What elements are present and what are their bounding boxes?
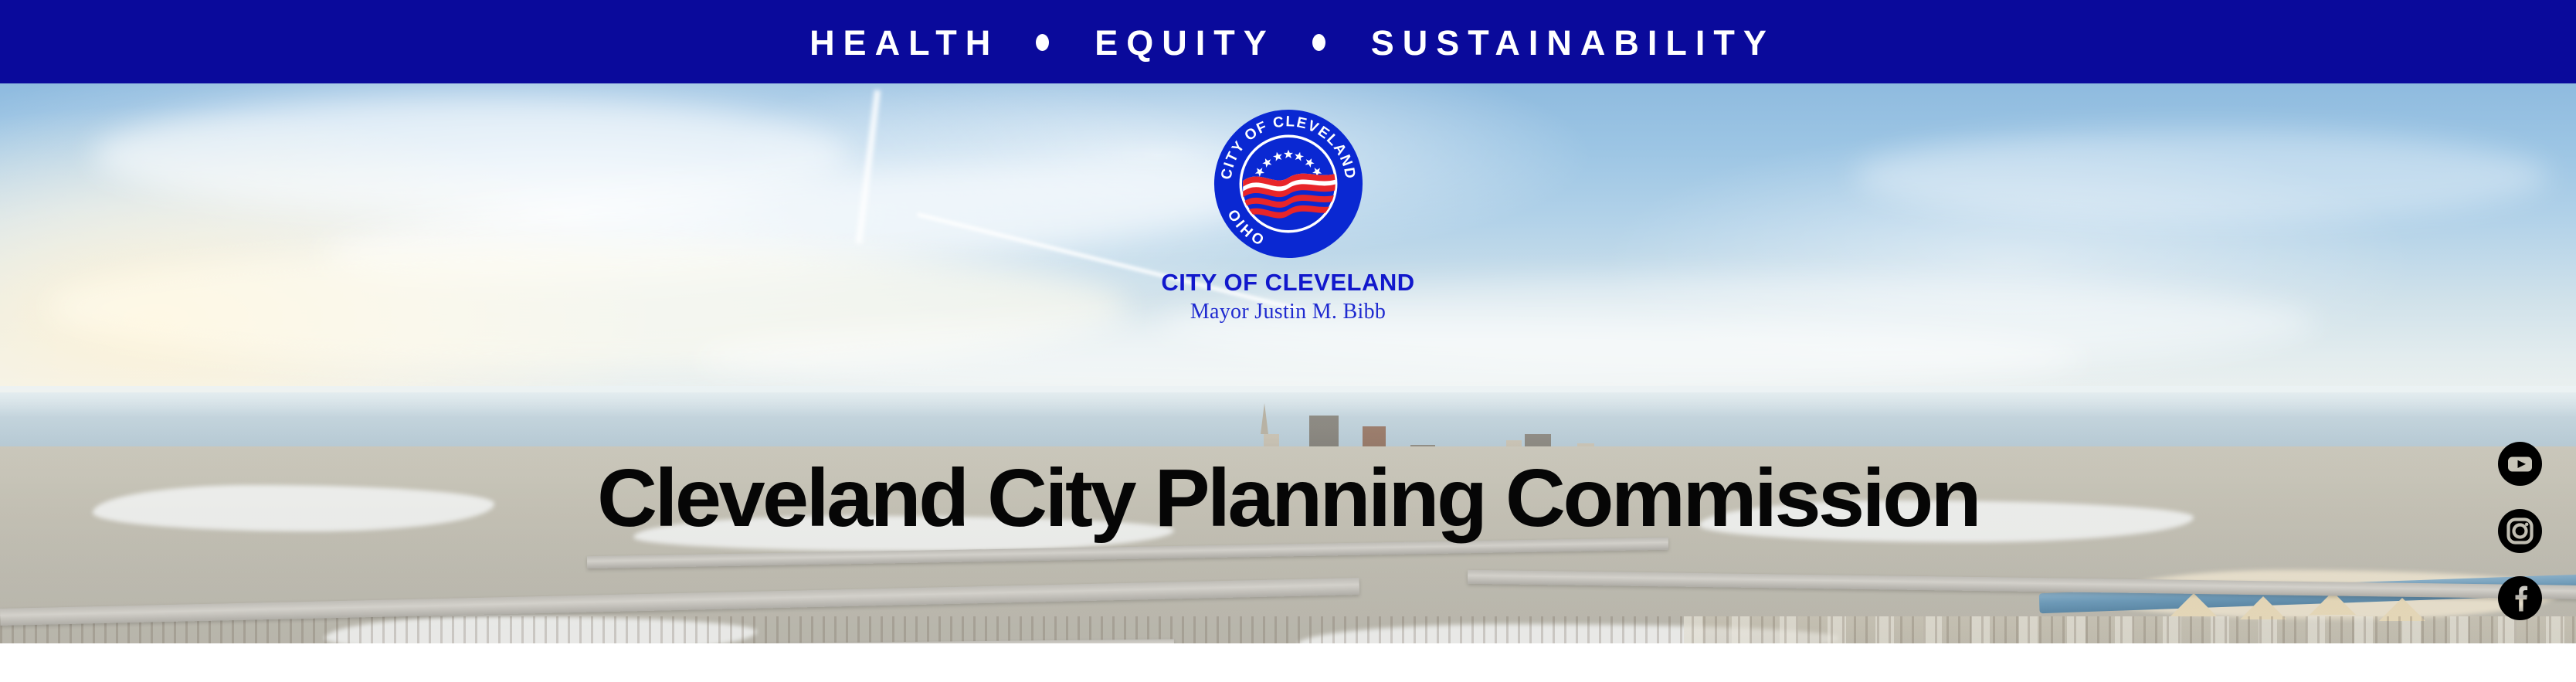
tagline-inner: HEALTH EQUITY SUSTAINABILITY xyxy=(801,25,1775,60)
city-seal: CITY OF CLEVELAND OHIO xyxy=(1213,108,1364,260)
city-seal-lockup: CITY OF CLEVELAND OHIO xyxy=(0,108,2576,323)
bottom-white-strip xyxy=(0,643,2576,682)
youtube-icon[interactable] xyxy=(2498,442,2542,486)
tagline-bar: HEALTH EQUITY SUSTAINABILITY xyxy=(0,0,2576,83)
city-of-cleveland-seal-icon: CITY OF CLEVELAND OHIO xyxy=(1213,108,1364,260)
cleveland-city-planning-commission-banner: HEALTH EQUITY SUSTAINABILITY xyxy=(0,0,2576,682)
tagline-separator-dot-1 xyxy=(1036,34,1049,51)
tagline-word-equity: EQUITY xyxy=(1086,25,1275,60)
bare-trees xyxy=(0,616,2576,643)
city-name-label: CITY OF CLEVELAND xyxy=(1161,270,1414,294)
tagline-word-sustainability: SUSTAINABILITY xyxy=(1363,25,1775,60)
page-title: Cleveland City Planning Commission xyxy=(0,457,2576,539)
tagline-separator-dot-2 xyxy=(1312,34,1325,51)
tagline-word-health: HEALTH xyxy=(801,25,999,60)
mayor-name-label: Mayor Justin M. Bibb xyxy=(1190,301,1386,323)
social-media-rail xyxy=(2498,442,2543,620)
instagram-icon[interactable] xyxy=(2498,509,2542,553)
sand-pile xyxy=(2170,593,2217,616)
facebook-icon[interactable] xyxy=(2498,576,2542,620)
